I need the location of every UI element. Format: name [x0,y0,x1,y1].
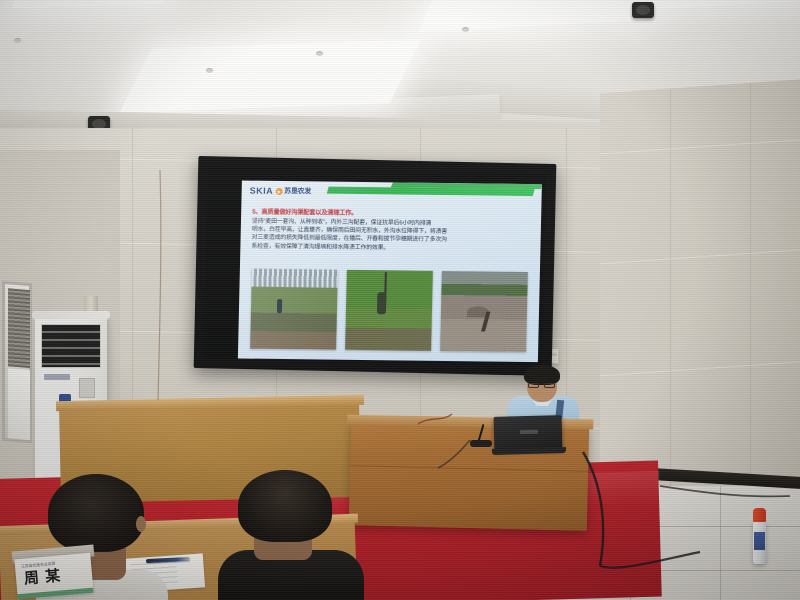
ceiling-speaker-right [632,2,654,18]
slide-photo-row [250,269,528,352]
attendee-right-head [238,470,332,542]
slide-photo-1 [250,269,338,350]
window-glass [8,368,30,440]
air-conditioner-energy-label [79,378,95,398]
slide-photo-3 [440,271,528,352]
placard-name-text: 周 某 [24,568,62,586]
window-with-blinds [2,281,32,444]
ceiling-fixture-dot [206,68,213,73]
ceiling-fixture-dot [316,51,323,56]
photo-scene: SKIA 苏垦农发 5、高质量做好沟渠配套以及清理工作。 坚持"麦田一套沟、从种… [0,0,800,600]
play-circle-icon [275,188,282,195]
laptop[interactable] [494,415,563,451]
ceiling-fixture-dot [462,27,469,32]
brand-name-text: SKIA [250,187,274,196]
spray-bottle-label [754,532,765,550]
name-placard: 江苏省农垦农业发展 周 某 [14,553,93,599]
slide-photo-2 [345,270,433,351]
panel-light-2 [419,0,662,32]
panel-light-3 [646,0,800,9]
led-presentation-screen[interactable]: SKIA 苏垦农发 5、高质量做好沟渠配套以及清理工作。 坚持"麦田一套沟、从种… [194,156,557,376]
air-conditioner-top [32,311,110,319]
desk-microphone[interactable] [470,424,492,444]
attendee-front-right [228,470,344,600]
window-blinds [8,288,30,368]
panel-light-1 [120,39,422,112]
air-conditioner-vent [41,324,101,368]
right-wall [600,79,800,524]
attendee-left-ear [136,516,146,532]
spray-bottle-cap [753,508,766,522]
glasses-icon [527,383,557,388]
ceiling-fixture-dot [14,38,21,43]
brand-logo: SKIA 苏垦农发 [250,187,312,197]
air-conditioner-brand-mark [44,374,70,380]
screen-bezel-inner: SKIA 苏垦农发 5、高质量做好沟渠配套以及清理工作。 坚持"麦田一套沟、从种… [204,166,546,366]
panel-light-4 [11,0,179,9]
microphone-base [470,440,492,447]
slide-body-text: 坚持"麦田一套沟、从种到收"，内外三沟配套，保证抗旱后6小时内排清 明水，白茬早… [251,218,530,254]
slide-header: SKIA 苏垦农发 [241,181,541,207]
slide-heading: 5、高质量做好沟渠配套以及清理工作。 [252,207,357,217]
presenter-hair [524,365,560,385]
podium-seam [350,465,588,472]
attendee-left-head [48,474,144,552]
brand-chinese-name: 苏垦农发 [284,188,311,195]
presentation-slide: SKIA 苏垦农发 5、高质量做好沟渠配套以及清理工作。 坚持"麦田一套沟、从种… [238,181,542,363]
